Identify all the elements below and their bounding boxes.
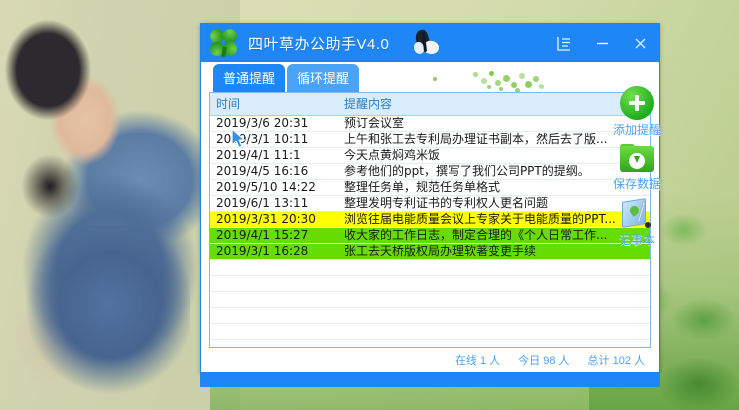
cell-time: 2019/3/6 20:31 [210,116,338,132]
save-data-button[interactable]: 保存数据 [598,144,676,192]
column-header-time[interactable]: 时间 [210,93,338,116]
cell-time: 2019/5/10 14:22 [210,180,338,196]
table-row[interactable]: 2019/3/6 20:31预订会议室 [210,116,650,132]
status-total: 总计 102 人 [588,352,645,368]
application-window: 四叶草办公助手V4.0 普通提醒 [200,23,660,373]
close-icon[interactable] [621,24,659,62]
cell-empty [210,308,338,324]
cell-time: 2019/3/1 10:11 [210,132,338,148]
status-online: 在线 1 人 [455,352,500,368]
table-row[interactable]: 2019/3/1 10:11上午和张工去专利局办理证书副本，然后去了版... [210,132,650,148]
table-row[interactable]: 2019/5/10 14:22整理任务单，规范任务单格式 [210,180,650,196]
table-row-empty[interactable] [210,308,650,324]
cell-empty [338,340,650,349]
add-reminder-label: 添加提醒 [613,121,661,138]
table-row[interactable]: 2019/3/1 16:28张工去天桥版权局办理软著变更手续 [210,244,650,260]
action-rail: 添加提醒 保存数据 记事本 [598,86,676,276]
reminders-list[interactable]: 时间 提醒内容 2019/3/6 20:31预订会议室2019/3/1 10:1… [209,92,651,348]
cell-empty [210,340,338,349]
cell-empty [210,260,338,276]
table-row-empty[interactable] [210,340,650,349]
table-row[interactable]: 2019/3/31 20:30浏览往届电能质量会议上专家关于电能质量的PPT..… [210,212,650,228]
reminders-table: 时间 提醒内容 2019/3/6 20:31预订会议室2019/3/1 10:1… [210,93,650,348]
status-today: 今日 98 人 [518,352,569,368]
cell-empty [210,292,338,308]
cell-time: 2019/3/1 16:28 [210,244,338,260]
notepad-button[interactable]: 记事本 [598,198,676,248]
notebook-icon [620,198,654,230]
save-folder-icon [620,144,654,174]
plus-circle-icon [620,86,654,120]
add-reminder-button[interactable]: 添加提醒 [598,86,676,138]
status-bar: 在线 1 人 今日 98 人 总计 102 人 [201,348,659,372]
table-header-row: 时间 提醒内容 [210,93,650,116]
cell-empty [338,324,650,340]
four-leaf-clover-icon [209,29,239,57]
reminders-body: 2019/3/6 20:31预订会议室2019/3/1 10:11上午和张工去专… [210,116,650,349]
window-bottom-band [200,373,660,387]
cell-empty [338,292,650,308]
cell-time: 2019/6/1 13:11 [210,196,338,212]
tab-strip: 普通提醒 循环提醒 [201,62,659,92]
menu-icon[interactable] [545,24,583,62]
minimize-icon[interactable] [583,24,621,62]
table-row-empty[interactable] [210,260,650,276]
cell-empty [338,276,650,292]
cell-empty [210,324,338,340]
cell-empty [338,308,650,324]
butterfly-icon [411,27,445,59]
table-row-empty[interactable] [210,276,650,292]
table-row[interactable]: 2019/6/1 13:11整理发明专利证书的专利权人更名问题 [210,196,650,212]
save-data-label: 保存数据 [613,175,661,192]
window-title: 四叶草办公助手V4.0 [248,33,389,54]
table-row[interactable]: 2019/4/1 11:1今天点黄焖鸡米饭 [210,148,650,164]
cell-time: 2019/3/31 20:30 [210,212,338,228]
window-controls [545,24,659,62]
notepad-label: 记事本 [619,231,655,248]
table-row[interactable]: 2019/4/1 15:27收大家的工作日志，制定合理的《个人日常工作... [210,228,650,244]
cell-time: 2019/4/1 15:27 [210,228,338,244]
clover-decoration-icon [429,68,549,92]
tab-recurring-reminder[interactable]: 循环提醒 [287,64,359,92]
tab-normal-reminder[interactable]: 普通提醒 [213,64,285,92]
table-row[interactable]: 2019/4/5 16:16参考他们的ppt，撰写了我们公司PPT的提纲。 [210,164,650,180]
cell-time: 2019/4/1 11:1 [210,148,338,164]
cell-time: 2019/4/5 16:16 [210,164,338,180]
cell-empty [210,276,338,292]
table-row-empty[interactable] [210,324,650,340]
table-row-empty[interactable] [210,292,650,308]
title-bar[interactable]: 四叶草办公助手V4.0 [201,24,659,62]
